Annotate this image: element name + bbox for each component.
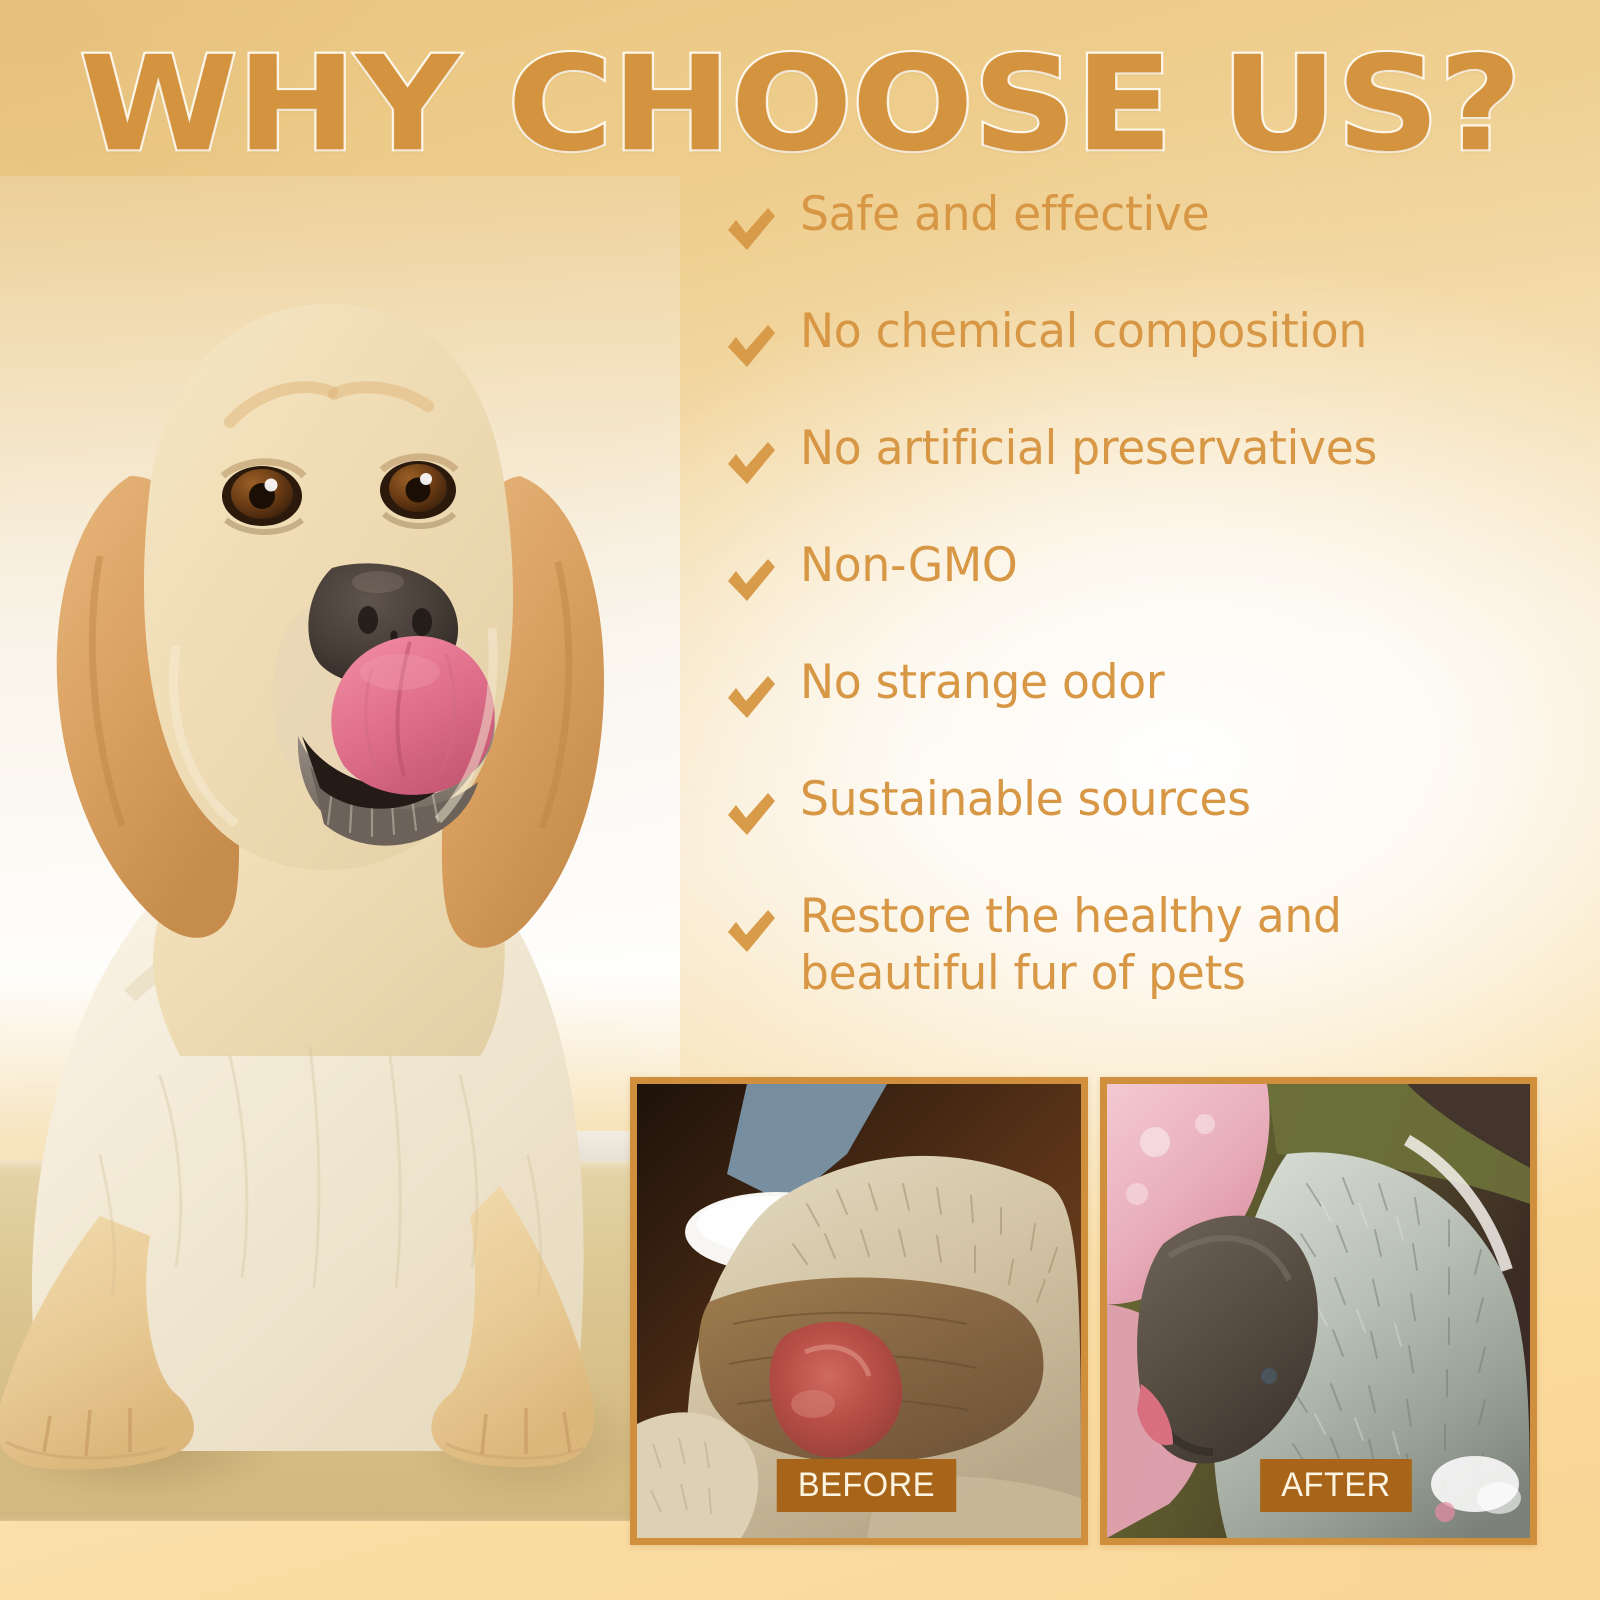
check-icon	[726, 908, 776, 956]
feature-item: Sustainable sources	[726, 771, 1556, 888]
dog-illustration	[0, 176, 680, 1506]
feature-label: No strange odor	[800, 654, 1164, 711]
after-badge: AFTER	[1260, 1459, 1412, 1512]
feature-item: No chemical composition	[726, 303, 1556, 420]
feature-item: No strange odor	[726, 654, 1556, 771]
feature-label: Sustainable sources	[800, 771, 1251, 828]
feature-item: Safe and effective	[726, 186, 1556, 303]
feature-label: No chemical composition	[800, 303, 1367, 360]
check-icon	[726, 440, 776, 488]
feature-list: Safe and effective No chemical compositi…	[726, 186, 1556, 1003]
before-photo-frame: BEFORE	[630, 1077, 1088, 1545]
check-icon	[726, 557, 776, 605]
feature-item: No artificial preservatives	[726, 420, 1556, 537]
after-photo-frame: AFTER	[1100, 1077, 1537, 1545]
feature-item: Non-GMO	[726, 537, 1556, 654]
feature-label: No artificial preservatives	[800, 420, 1377, 477]
check-icon	[726, 674, 776, 722]
check-icon	[726, 206, 776, 254]
feature-item: Restore the healthy and beautiful fur of…	[726, 888, 1556, 1003]
feature-label: Restore the healthy and beautiful fur of…	[800, 888, 1342, 1003]
promo-banner: WHY CHOOSE US? Safe and effective No che…	[0, 0, 1600, 1600]
feature-label: Safe and effective	[800, 186, 1209, 243]
check-icon	[726, 323, 776, 371]
check-icon	[726, 791, 776, 839]
hero-dog-photo	[0, 176, 680, 1506]
page-title: WHY CHOOSE US?	[0, 38, 1600, 172]
feature-label: Non-GMO	[800, 537, 1018, 594]
before-badge: BEFORE	[777, 1459, 956, 1512]
